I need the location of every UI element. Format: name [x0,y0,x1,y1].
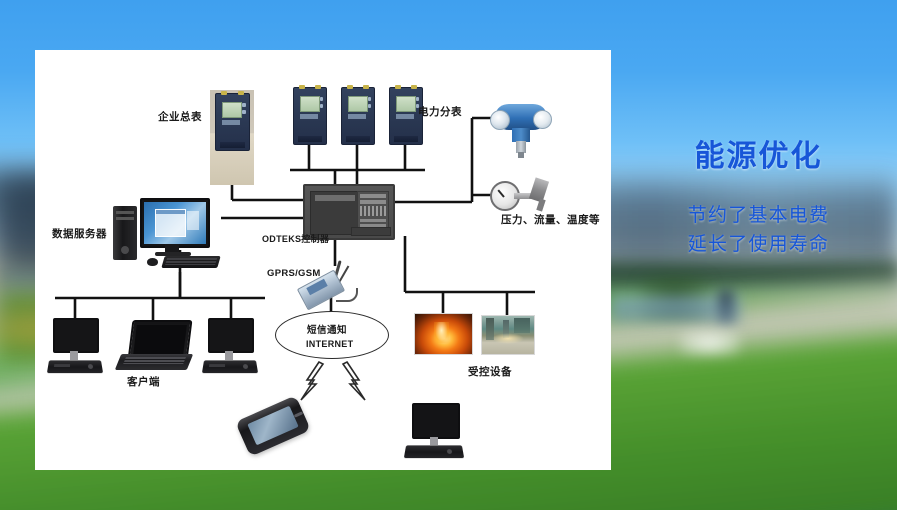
wireless-bolt-left [301,362,323,400]
desktop-monitor-icon [48,318,104,374]
label-gprs-gsm: GPRS/GSM [267,269,321,279]
headline-subline-1: 节约了基本电费 [620,201,897,230]
wireless-bolt-right [343,362,365,400]
label-client: 客户端 [127,377,160,388]
label-main-meter: 企业总表 [158,112,202,123]
industrial-plant-photo [481,315,535,355]
label-sensors: 压力、流量、温度等 [501,215,600,226]
controller-box-icon [303,184,395,240]
desktop-computer-icon [113,192,221,272]
cloud-label-sms: 短信通知 [307,326,347,336]
smartphone-icon [240,405,314,453]
electric-meter-icon [293,87,327,145]
background-highlight [680,330,740,356]
pressure-gauge-icon [490,177,552,217]
headline-block: 能源优化 节约了基本电费 延长了使用寿命 [620,140,897,260]
cloud-label-internet: INTERNET [306,340,353,349]
pressure-transmitter-icon [490,102,552,158]
headline-title: 能源优化 [620,140,897,173]
furnace-photo [414,313,473,355]
label-sub-meter: 电力分表 [418,107,462,118]
electric-meter-icon [215,93,250,151]
label-controller: ODTEKS控制器 [262,235,329,244]
system-diagram-panel: 短信通知 INTERNET [35,50,611,470]
laptop-icon [118,320,190,376]
desktop-monitor-icon [405,403,465,458]
headline-subline-2: 延长了使用寿命 [620,230,897,259]
background-person [718,290,734,324]
label-data-server: 数据服务器 [52,229,107,240]
presentation-slide: 短信通知 INTERNET [0,0,897,510]
desktop-monitor-icon [203,318,259,374]
label-controlled-equipment: 受控设备 [468,367,512,378]
electric-meter-icon [341,87,375,145]
